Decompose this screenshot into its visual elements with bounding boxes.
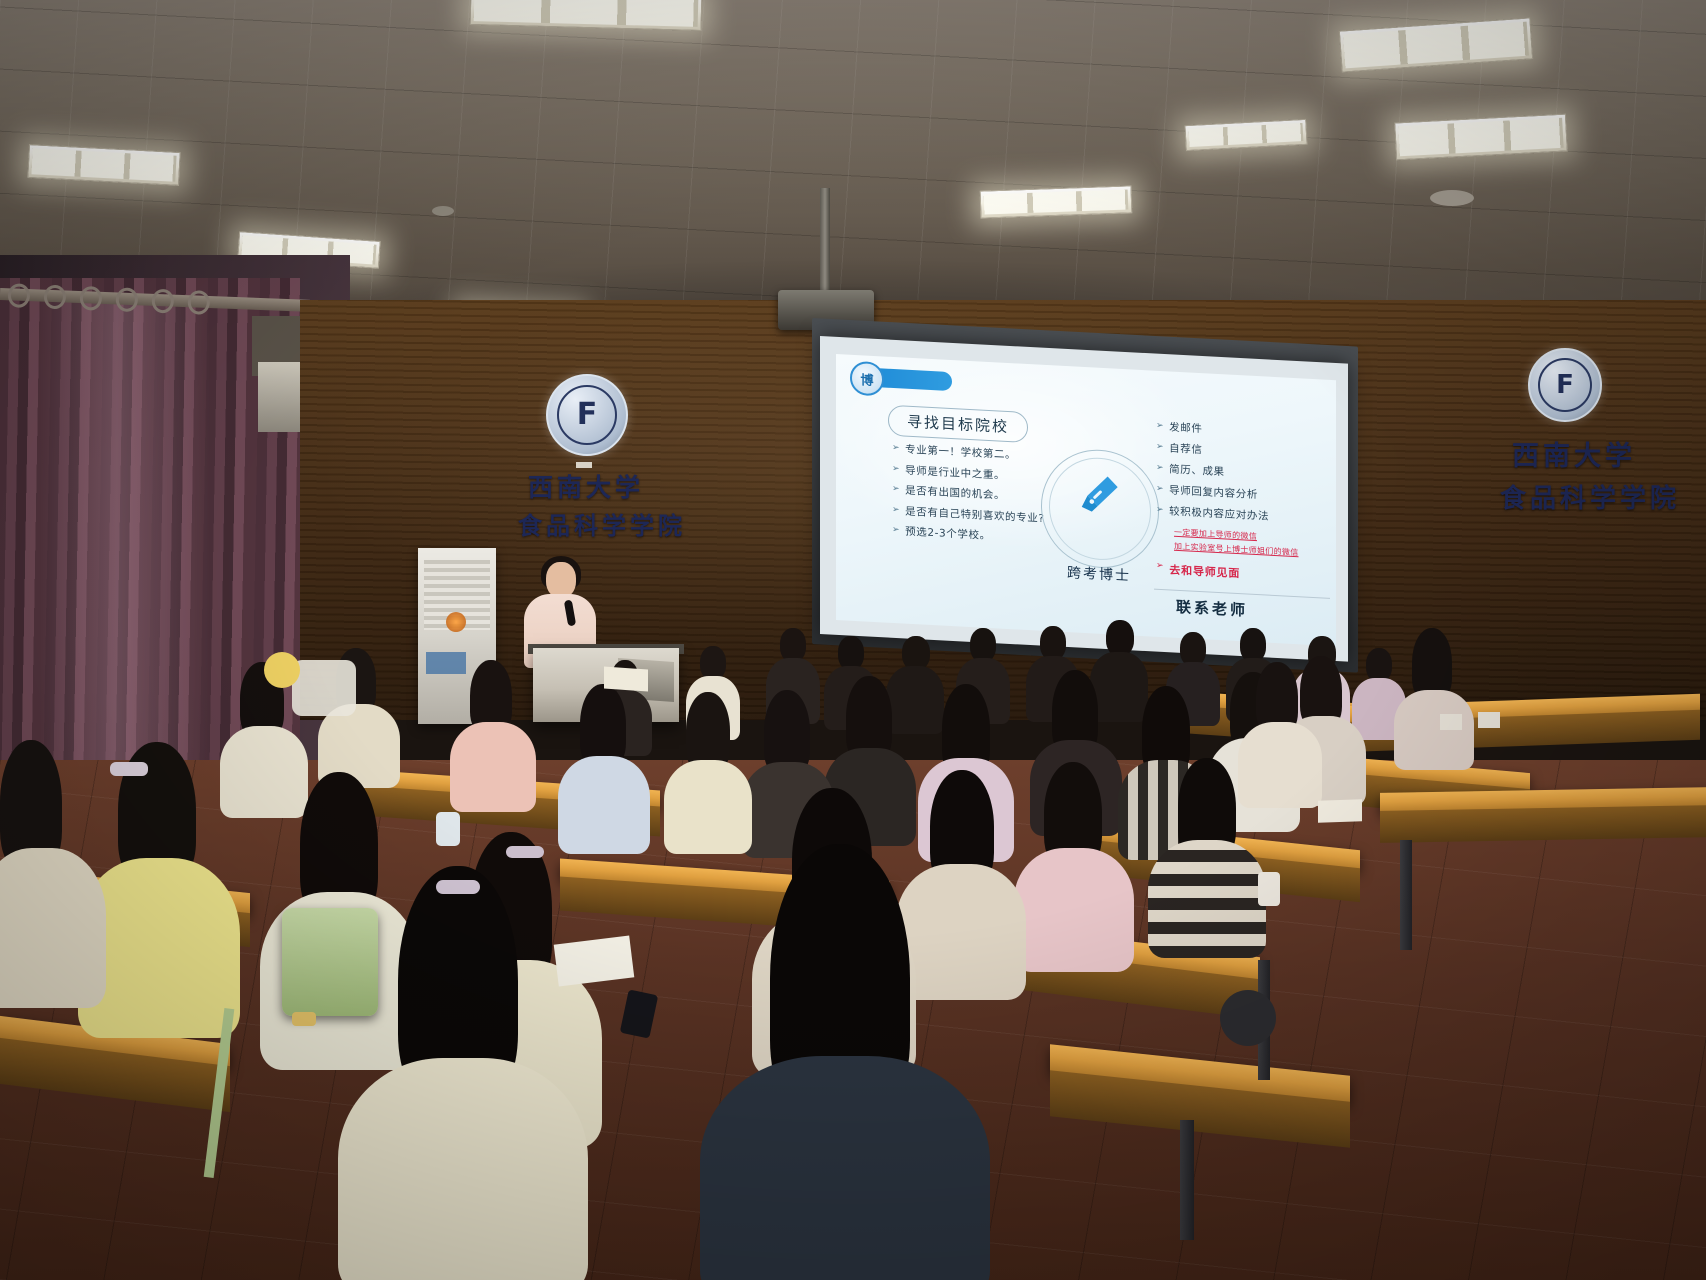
handbag-buckle (292, 1012, 316, 1026)
desk-leg (1400, 840, 1412, 950)
bullet-text: 是否有出国的机会。 (905, 485, 1005, 502)
seated-audience-member (1240, 628, 1266, 662)
bullet-arrow-icon: ➢ (1156, 561, 1164, 571)
bullet-arrow-icon: ➢ (1156, 505, 1164, 517)
seated-audience-member (780, 628, 806, 662)
desk-chair-back (1220, 990, 1276, 1046)
presenter-head (546, 562, 576, 598)
seated-audience-member (338, 1058, 588, 1280)
seated-audience-member (1090, 652, 1148, 722)
seated-audience-member (1238, 722, 1322, 808)
emblem-glyph: F (577, 400, 598, 430)
seated-audience-member (664, 760, 752, 854)
handbag (282, 908, 378, 1016)
list-item: ➢导师回复内容分析 (1156, 484, 1331, 505)
seated-audience-member (700, 646, 726, 680)
hair-clip (506, 846, 544, 858)
seated-audience-member (558, 756, 650, 854)
hair-clip (110, 762, 148, 776)
university-emblem: F (546, 374, 628, 456)
list-item: ➢较积极内容应对办法 (1156, 505, 1331, 526)
desk-leg (1180, 1120, 1194, 1240)
seated-audience-member (1014, 848, 1134, 972)
seated-audience-member (838, 636, 864, 670)
seated-audience-member (700, 1056, 990, 1280)
seated-audience-member (1148, 840, 1266, 958)
air-conditioner-indicator-light (446, 612, 466, 632)
presentation-slide: 博 寻找目标院校 ➢专业第一！学校第二。 ➢导师是行业中之重。 ➢是否有出国的机… (836, 354, 1336, 646)
air-conditioner-display (426, 652, 466, 674)
seated-audience-member (886, 666, 944, 734)
university-emblem: F (1528, 348, 1602, 422)
desk-row-front-panel (1380, 805, 1706, 843)
seated-audience-member (1394, 690, 1474, 770)
seated-audience-member (970, 628, 996, 662)
wall-socket (1440, 714, 1462, 730)
bullet-arrow-icon: ➢ (1156, 463, 1164, 475)
department-name-sign: 食品科学学院 (518, 506, 686, 541)
emblem-glyph: F (1556, 372, 1574, 398)
bullet-text: 导师是行业中之重。 (905, 464, 1005, 481)
ceiling-speaker (1430, 190, 1474, 206)
badge-glyph: 博 (860, 369, 873, 389)
seated-audience-member (1366, 648, 1392, 682)
list-item: ➢简历、成果 (1156, 463, 1331, 484)
bullet-text: 是否有自己特别喜欢的专业? (905, 505, 1044, 524)
department-name-sign: 食品科学学院 (1500, 478, 1680, 515)
list-item: ➢自荐信 (1156, 442, 1331, 463)
plastic-bag (292, 660, 356, 716)
bullet-arrow-icon: ➢ (1156, 442, 1164, 454)
seated-audience-member (220, 726, 308, 818)
slide-contact-label: 联系老师 (1176, 596, 1248, 621)
curtain-highlight (40, 300, 210, 820)
seated-audience-member (1180, 632, 1206, 666)
university-name-sign: 西南大学 (528, 468, 644, 504)
bullet-text: 预选2-3个学校。 (905, 526, 991, 543)
slide-right-bullet-list: ➢发邮件 ➢自荐信 ➢简历、成果 ➢导师回复内容分析 ➢较积极内容应对办法 一定… (1156, 421, 1331, 586)
bullet-text: 简历、成果 (1169, 464, 1225, 479)
lecture-hall-photo: F 西南大学 食品科学学院 F 西南大学 食品科学学院 博 寻找目标院校 ➢专业… (0, 0, 1706, 1280)
plush-toy (264, 652, 300, 688)
pen-nib-icon (1076, 471, 1122, 519)
seated-audience-member (902, 636, 930, 670)
bullet-arrow-icon: ➢ (892, 484, 900, 496)
ceiling-light-panel (980, 185, 1133, 218)
wall-socket (1478, 712, 1500, 728)
seated-audience-member (450, 722, 536, 812)
bullet-arrow-icon: ➢ (892, 463, 900, 475)
water-bottle (436, 812, 460, 846)
seated-audience-member (1040, 626, 1066, 660)
paper-handout (604, 666, 648, 691)
projector-mount-pole (820, 188, 830, 296)
hair-clip (436, 880, 480, 894)
bullet-arrow-icon: ➢ (892, 505, 900, 517)
notebook (1318, 799, 1362, 823)
seated-audience-member (1106, 620, 1134, 656)
ceiling-smoke-detector (432, 206, 454, 216)
water-bottle (1258, 872, 1280, 906)
bullet-text: 自荐信 (1169, 443, 1202, 457)
bullet-arrow-icon: ➢ (892, 525, 900, 537)
bullet-arrow-icon: ➢ (892, 443, 900, 455)
bullet-arrow-icon: ➢ (1156, 421, 1164, 433)
bullet-text: 导师回复内容分析 (1169, 485, 1258, 502)
bullet-text: 较积极内容应对办法 (1169, 506, 1269, 523)
seated-audience-member (0, 848, 106, 1008)
university-name-sign: 西南大学 (1512, 434, 1636, 473)
bullet-arrow-icon: ➢ (1156, 484, 1164, 496)
bullet-text: 发邮件 (1169, 421, 1202, 435)
